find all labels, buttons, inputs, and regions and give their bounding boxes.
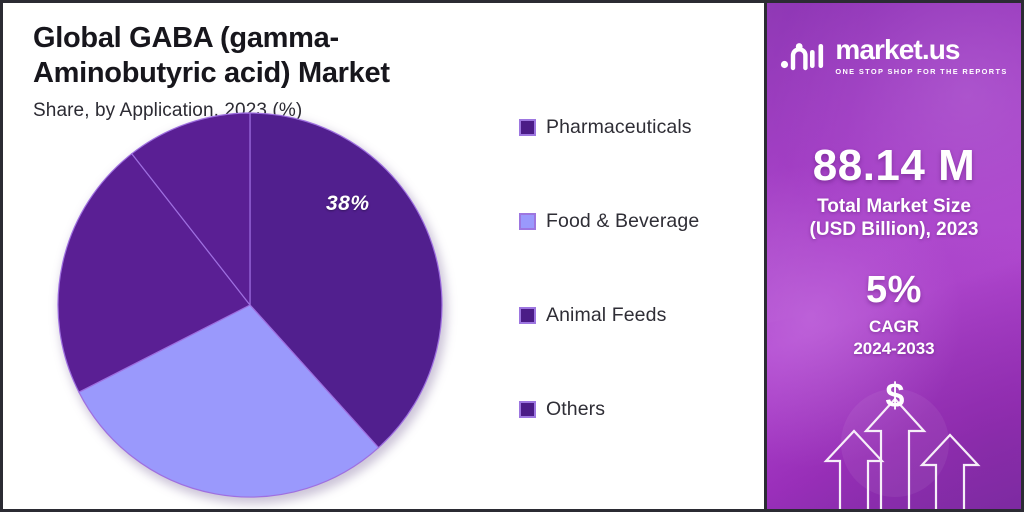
legend-item-label: Food & Beverage	[546, 210, 699, 233]
legend-swatch-icon	[519, 307, 536, 324]
cagr-value: 5%	[764, 271, 1024, 311]
dollar-sign-icon: $	[886, 377, 905, 415]
legend-swatch-icon	[519, 401, 536, 418]
pie-chart-svg	[56, 111, 448, 503]
market-us-logo-icon	[780, 37, 826, 71]
logo-wordmark: market.us	[835, 36, 1007, 64]
market-size-value: 88.14 M	[764, 143, 1024, 189]
pie-chart: 38%	[56, 111, 448, 503]
infographic-root: Global GABA (gamma-Aminobutyric acid) Ma…	[0, 0, 1024, 512]
legend-item-label: Others	[546, 398, 605, 421]
cagr-block: 5% CAGR 2024-2033	[764, 271, 1024, 359]
chart-panel: Global GABA (gamma-Aminobutyric acid) Ma…	[3, 3, 761, 509]
cagr-caption: CAGR	[764, 317, 1024, 338]
stats-panel: $ market.us ONE STOP SHOP FOR THE REPORT…	[764, 3, 1024, 509]
market-size-block: 88.14 M Total Market Size (USD Billion),…	[764, 143, 1024, 242]
legend-item-label: Animal Feeds	[546, 304, 666, 327]
market-size-caption: Total Market Size (USD Billion), 2023	[764, 195, 1024, 241]
logo-tagline: ONE STOP SHOP FOR THE REPORTS	[835, 67, 1007, 76]
logo-text: market.us ONE STOP SHOP FOR THE REPORTS	[835, 36, 1007, 76]
legend-item-label: Pharmaceuticals	[546, 116, 692, 139]
legend-swatch-icon	[519, 213, 536, 230]
legend-swatch-icon	[519, 119, 536, 136]
cagr-range: 2024-2033	[764, 338, 1024, 359]
growth-arrows-art: $	[764, 369, 1024, 509]
title-block: Global GABA (gamma-Aminobutyric acid) Ma…	[33, 21, 513, 122]
chart-legend: Pharmaceuticals Food & Beverage Animal F…	[519, 116, 755, 420]
brand-logo[interactable]: market.us ONE STOP SHOP FOR THE REPORTS	[764, 36, 1024, 76]
market-size-caption-line1: Total Market Size	[764, 195, 1024, 218]
legend-item-animal-feeds[interactable]: Animal Feeds	[519, 304, 755, 326]
market-size-caption-line2: (USD Billion), 2023	[764, 218, 1024, 241]
pie-slice-label-pharmaceuticals: 38%	[326, 192, 370, 216]
legend-item-pharmaceuticals[interactable]: Pharmaceuticals	[519, 116, 755, 138]
legend-item-others[interactable]: Others	[519, 398, 755, 420]
legend-item-food-and-beverage[interactable]: Food & Beverage	[519, 210, 755, 232]
page-title: Global GABA (gamma-Aminobutyric acid) Ma…	[33, 21, 513, 92]
